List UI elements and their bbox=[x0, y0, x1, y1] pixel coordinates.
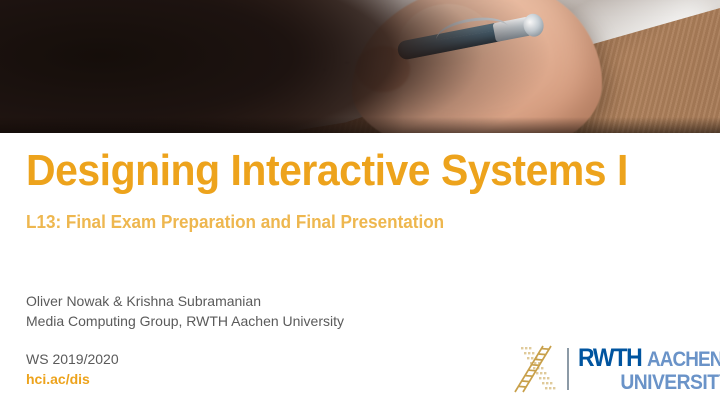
header-photo bbox=[0, 0, 720, 133]
logo-wordmark-row-1: RWTH AACHEN bbox=[578, 346, 720, 371]
semester-line: WS 2019/2020 bbox=[26, 349, 344, 369]
photo-bottom-fade bbox=[0, 117, 720, 133]
logo-text-aachen: AACHEN bbox=[647, 349, 720, 370]
rwth-aachen-logo: RWTH AACHEN UNIVERSITY bbox=[512, 341, 708, 397]
metadata-spacer bbox=[26, 331, 344, 349]
photo-vignette bbox=[0, 0, 720, 133]
logo-divider bbox=[567, 348, 569, 390]
slide-metadata: Oliver Nowak & Krishna Subramanian Media… bbox=[26, 291, 344, 389]
page-subtitle: L13: Final Exam Preparation and Final Pr… bbox=[26, 210, 641, 234]
authors-line: Oliver Nowak & Krishna Subramanian bbox=[26, 291, 344, 311]
rwth-x-mark-icon bbox=[512, 342, 564, 396]
logo-wordmark: RWTH AACHEN UNIVERSITY bbox=[578, 346, 720, 393]
page-title: Designing Interactive Systems I bbox=[26, 146, 628, 196]
title-block: Designing Interactive Systems I L13: Fin… bbox=[26, 146, 673, 234]
logo-text-rwth: RWTH bbox=[578, 346, 641, 371]
logo-text-university: UNIVERSITY bbox=[590, 372, 720, 393]
presentation-title-slide: Designing Interactive Systems I L13: Fin… bbox=[0, 0, 720, 405]
course-url-link[interactable]: hci.ac/dis bbox=[26, 369, 344, 389]
affiliation-line: Media Computing Group, RWTH Aachen Unive… bbox=[26, 311, 344, 331]
